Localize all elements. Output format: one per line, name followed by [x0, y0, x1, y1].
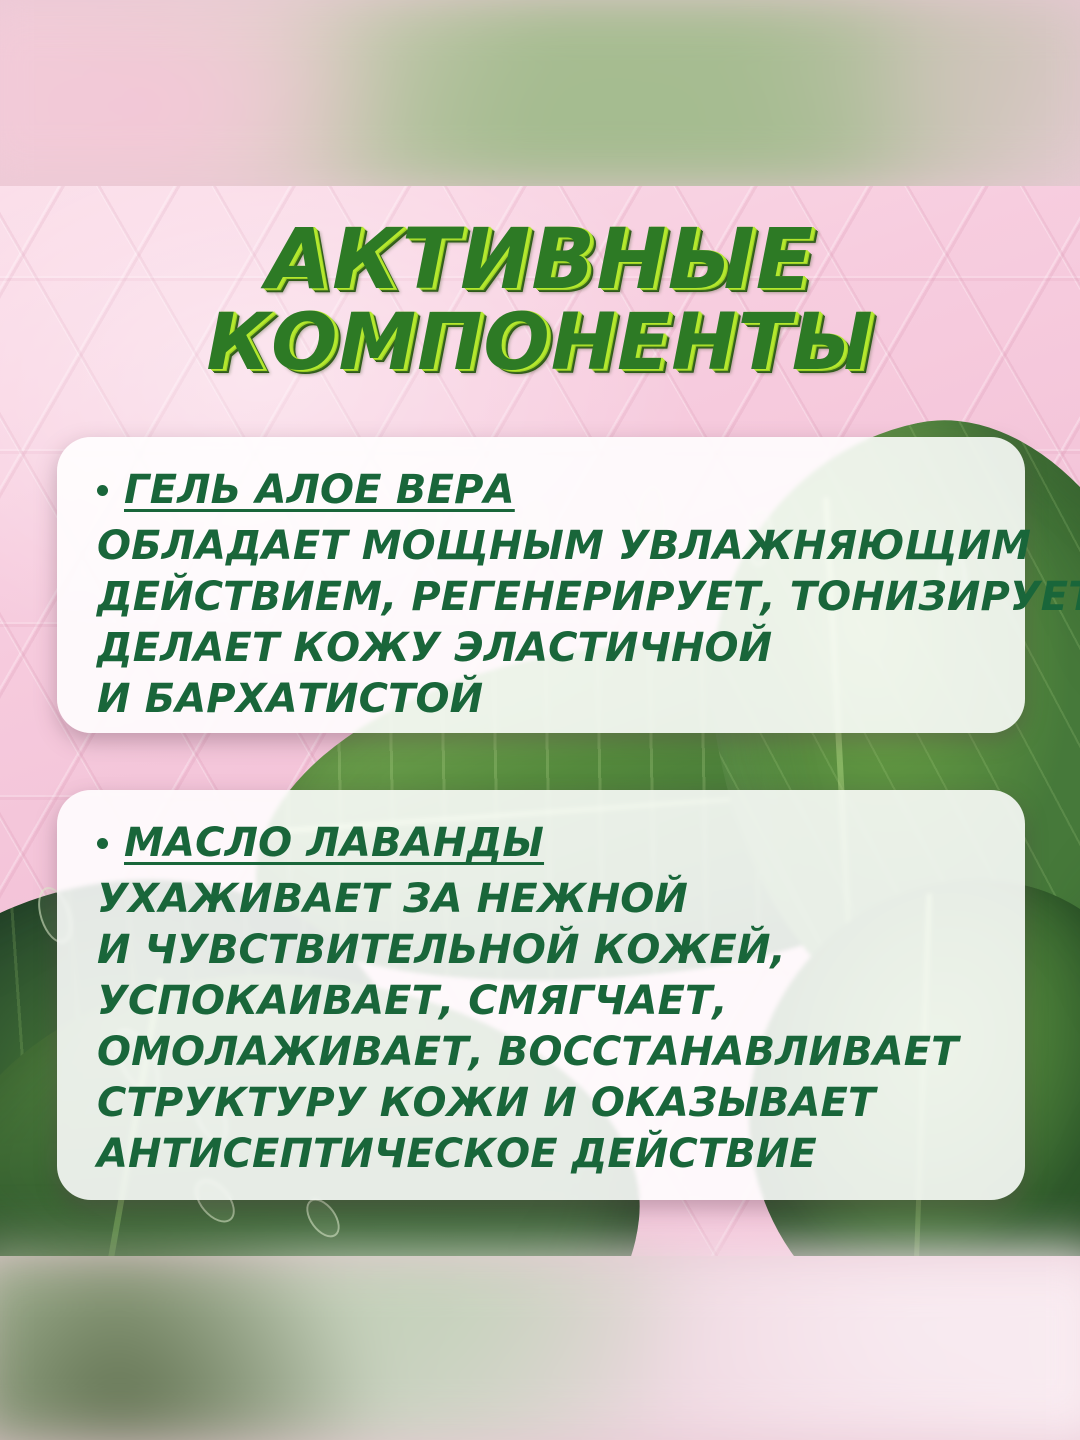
poster-stage: АКТИВНЫЕ КОМПОНЕНТЫ ГЕЛЬ АЛОЕ ВЕРА ОБЛАД…	[0, 0, 1080, 1440]
page-title: АКТИВНЫЕ КОМПОНЕНТЫ	[0, 220, 1080, 380]
blurred-bottom-band-fill	[0, 1250, 1080, 1440]
main-artwork-area: АКТИВНЫЕ КОМПОНЕНТЫ ГЕЛЬ АЛОЕ ВЕРА ОБЛАД…	[0, 186, 1080, 1256]
blurred-top-band	[0, 0, 1080, 192]
ingredient-line: СТРУКТУРУ КОЖИ И ОКАЗЫВАЕТ	[97, 1078, 985, 1129]
ingredient-line: ДЕЛАЕТ КОЖУ ЭЛАСТИЧНОЙ	[97, 623, 1080, 674]
blurred-top-band-fill	[0, 0, 1080, 192]
ingredient-description-aloe-vera-gel: ОБЛАДАЕТ МОЩНЫМ УВЛАЖНЯЮЩИМ ДЕЙСТВИЕМ, Р…	[97, 521, 1080, 725]
ingredient-line: И БАРХАТИСТОЙ	[97, 674, 1080, 725]
ingredient-description-lavender-oil: УХАЖИВАЕТ ЗА НЕЖНОЙ И ЧУВСТВИТЕЛЬНОЙ КОЖ…	[97, 874, 985, 1180]
ingredient-line: ОМОЛАЖИВАЕТ, ВОССТАНАВЛИВАЕТ	[97, 1027, 985, 1078]
ingredient-line: УСПОКАИВАЕТ, СМЯГЧАЕТ,	[97, 976, 985, 1027]
ingredient-card-lavender-oil: МАСЛО ЛАВАНДЫ УХАЖИВАЕТ ЗА НЕЖНОЙ И ЧУВС…	[57, 790, 1025, 1200]
ingredient-body: МАСЛО ЛАВАНДЫ УХАЖИВАЕТ ЗА НЕЖНОЙ И ЧУВС…	[124, 820, 985, 1180]
ingredient-heading-aloe-vera-gel: ГЕЛЬ АЛОЕ ВЕРА	[124, 467, 1080, 513]
ingredient-card-aloe-vera-gel: ГЕЛЬ АЛОЕ ВЕРА ОБЛАДАЕТ МОЩНЫМ УВЛАЖНЯЮЩ…	[57, 437, 1025, 733]
blurred-bottom-band	[0, 1250, 1080, 1440]
page-title-line-1: АКТИВНЫЕ	[0, 220, 1080, 300]
ingredient-line: АНТИСЕПТИЧЕСКОЕ ДЕЙСТВИЕ	[97, 1129, 985, 1180]
ingredient-line: УХАЖИВАЕТ ЗА НЕЖНОЙ	[97, 874, 985, 925]
bullet-row: ГЕЛЬ АЛОЕ ВЕРА ОБЛАДАЕТ МОЩНЫМ УВЛАЖНЯЮЩ…	[97, 467, 985, 725]
ingredient-line: ДЕЙСТВИЕМ, РЕГЕНЕРИРУЕТ, ТОНИЗИРУЕТ,	[97, 572, 1080, 623]
bullet-dot-icon	[97, 485, 108, 496]
page-title-line-2: КОМПОНЕНТЫ	[0, 306, 1080, 380]
bullet-row: МАСЛО ЛАВАНДЫ УХАЖИВАЕТ ЗА НЕЖНОЙ И ЧУВС…	[97, 820, 985, 1180]
ingredient-heading-lavender-oil: МАСЛО ЛАВАНДЫ	[124, 820, 985, 866]
ingredient-body: ГЕЛЬ АЛОЕ ВЕРА ОБЛАДАЕТ МОЩНЫМ УВЛАЖНЯЮЩ…	[124, 467, 1080, 725]
ingredient-line: И ЧУВСТВИТЕЛЬНОЙ КОЖЕЙ,	[97, 925, 985, 976]
bullet-dot-icon	[97, 838, 108, 849]
ingredient-line: ОБЛАДАЕТ МОЩНЫМ УВЛАЖНЯЮЩИМ	[97, 521, 1080, 572]
